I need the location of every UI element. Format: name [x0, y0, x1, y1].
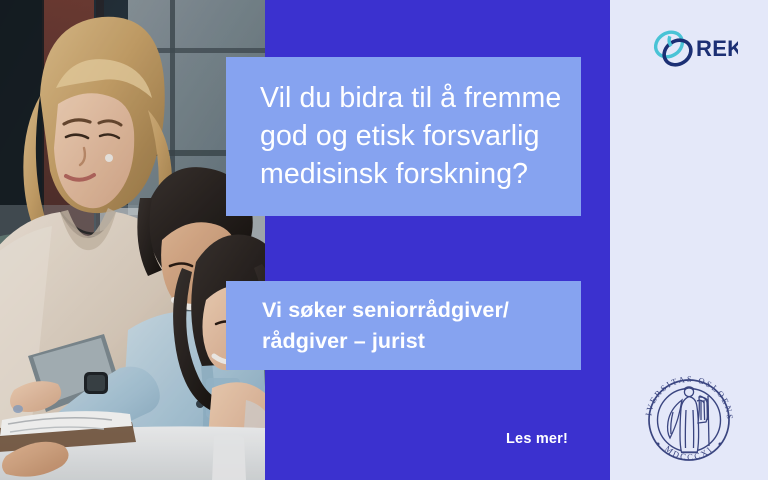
uio-seal: UNIVERSITAS OSLOENSIS MDCCCXI	[637, 366, 741, 480]
recruitment-banner: Vil du bidra til å fremme god og etisk f…	[0, 0, 768, 480]
job-title-card: Vi søker seniorrådgiver/ rådgiver – juri…	[226, 281, 581, 370]
job-title-line-2: rådgiver – jurist	[262, 326, 561, 357]
interlocking-rings-icon	[652, 27, 695, 69]
headline-line-3: medisinsk forskning?	[260, 155, 555, 193]
headline-line-1: Vil du bidra til å fremme	[260, 79, 555, 117]
apollo-with-lyre-figure	[668, 387, 709, 453]
headline-card: Vil du bidra til å fremme god og etisk f…	[226, 57, 581, 216]
rek-wordmark: REK	[696, 36, 738, 61]
headline-line-2: god og etisk forsvarlig	[260, 117, 555, 155]
job-title-line-1: Vi søker seniorrådgiver/	[262, 295, 561, 326]
read-more-button[interactable]: Les mer!	[506, 431, 568, 447]
rek-logo[interactable]: REK	[652, 27, 738, 71]
